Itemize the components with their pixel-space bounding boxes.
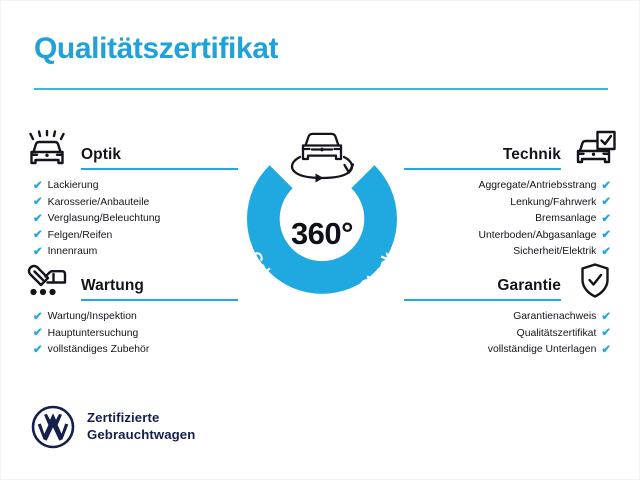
car-shine-icon [23, 129, 71, 171]
section-header-wartung: Wartung [23, 258, 238, 302]
list-item-label: Felgen/Reifen [48, 231, 113, 241]
wrench-car-icon [23, 260, 71, 302]
list-item-label: Karosserie/Anbauteile [48, 198, 150, 208]
section-divider-garantie [404, 299, 561, 302]
checklist-optik: ✔Lackierung ✔Karosserie/Anbauteile ✔Verg… [23, 178, 238, 261]
list-item: ✔Wartung/Inspektion [23, 309, 238, 326]
section-header-technik: Technik [404, 127, 619, 171]
list-item-label: Lackierung [48, 181, 99, 191]
page-title: Qualitätszertifikat [34, 34, 278, 64]
list-item: ✔Unterboden/Abgasanlage [404, 228, 619, 245]
list-item-label: Hauptuntersuchung [48, 329, 139, 339]
section-divider-wartung [81, 299, 238, 302]
list-item: ✔Lenkung/Fahrwerk [404, 195, 619, 212]
footer-line-2: Gebrauchtwagen [87, 427, 195, 444]
section-title-block-wartung: Wartung [71, 277, 238, 302]
list-item-label: Bremsanlage [535, 214, 596, 224]
list-item-label: Sicherheit/Elektrik [513, 247, 596, 257]
section-technik: Technik ✔Aggregate/Antriebsstrang ✔Lenku… [404, 127, 619, 261]
checklist-wartung: ✔Wartung/Inspektion ✔Hauptuntersuchung ✔… [23, 309, 238, 359]
list-item-label: Verglasung/Beleuchtung [48, 214, 161, 224]
check-icon: ✔ [33, 181, 43, 193]
check-icon: ✔ [33, 197, 43, 209]
checklist-garantie: ✔Garantienachweis ✔Qualitätszertifikat ✔… [404, 309, 619, 359]
check-icon: ✔ [33, 345, 43, 357]
footer-line-1: Zertifizierte [87, 410, 195, 427]
list-item: ✔Hauptuntersuchung [23, 326, 238, 343]
section-title-technik: Technik [404, 146, 561, 163]
check-icon: ✔ [33, 312, 43, 324]
footer-brand-text: Zertifizierte Gebrauchtwagen [87, 410, 195, 444]
list-item: ✔Qualitätszertifikat [404, 326, 619, 343]
footer-brand: Zertifizierte Gebrauchtwagen [31, 405, 195, 449]
list-item-label: vollständige Unterlagen [488, 345, 597, 355]
list-item: ✔Bremsanlage [404, 211, 619, 228]
list-item-label: Lenkung/Fahrwerk [510, 198, 596, 208]
list-item-label: Innenraum [48, 247, 98, 257]
check-icon: ✔ [33, 230, 43, 242]
vw-logo [31, 405, 75, 449]
section-title-optik: Optik [81, 146, 238, 163]
list-item: ✔Lackierung [23, 178, 238, 195]
checklist-technik: ✔Aggregate/Antriebsstrang ✔Lenkung/Fahrw… [404, 178, 619, 261]
check-icon: ✔ [601, 247, 611, 259]
check-icon: ✔ [601, 214, 611, 226]
check-icon: ✔ [33, 328, 43, 340]
list-item-label: Garantienachweis [513, 312, 596, 322]
section-title-block-optik: Optik [71, 146, 238, 171]
section-header-optik: Optik [23, 127, 238, 171]
list-item: ✔Felgen/Reifen [23, 228, 238, 245]
section-divider-optik [81, 168, 238, 171]
check-icon: ✔ [601, 328, 611, 340]
list-item: ✔vollständige Unterlagen [404, 342, 619, 359]
section-title-wartung: Wartung [81, 277, 238, 294]
list-item: ✔Karosserie/Anbauteile [23, 195, 238, 212]
section-garantie: Garantie ✔Garantienachweis ✔Qualitätszer… [404, 258, 619, 359]
badge-center-label: 360° [229, 218, 415, 249]
check-icon: ✔ [33, 247, 43, 259]
section-divider-technik [404, 168, 561, 171]
section-header-garantie: Garantie [404, 258, 619, 302]
section-title-block-garantie: Garantie [404, 277, 571, 302]
title-divider [34, 88, 608, 90]
check-icon: ✔ [601, 345, 611, 357]
list-item-label: Wartung/Inspektion [48, 312, 137, 322]
certificate-page: Qualitätszertifikat [0, 0, 640, 480]
list-item: ✔Garantienachweis [404, 309, 619, 326]
section-wartung: Wartung ✔Wartung/Inspektion ✔Hauptunters… [23, 258, 238, 359]
section-title-garantie: Garantie [404, 277, 561, 294]
check-icon: ✔ [601, 230, 611, 242]
section-title-block-technik: Technik [404, 146, 571, 171]
car-rotate-360-icon [303, 134, 341, 159]
list-item-label: Qualitätszertifikat [517, 329, 597, 339]
list-item-label: Aggregate/Antriebsstrang [479, 181, 597, 191]
list-item-label: vollständiges Zubehör [48, 345, 150, 355]
list-item: ✔Verglasung/Beleuchtung [23, 211, 238, 228]
section-optik: Optik ✔Lackierung ✔Karosserie/Anbauteile… [23, 127, 238, 261]
list-item: ✔Aggregate/Antriebsstrang [404, 178, 619, 195]
list-item: ✔vollständiges Zubehör [23, 342, 238, 359]
car-checkbox-icon [571, 129, 619, 171]
badge-360-gebrauchtwagen-check: Gebrauchtwagen-Check 360° [229, 119, 415, 315]
check-icon: ✔ [601, 181, 611, 193]
check-icon: ✔ [601, 197, 611, 209]
check-icon: ✔ [33, 214, 43, 226]
shield-check-icon [571, 260, 619, 302]
check-icon: ✔ [601, 312, 611, 324]
list-item-label: Unterboden/Abgasanlage [479, 231, 597, 241]
